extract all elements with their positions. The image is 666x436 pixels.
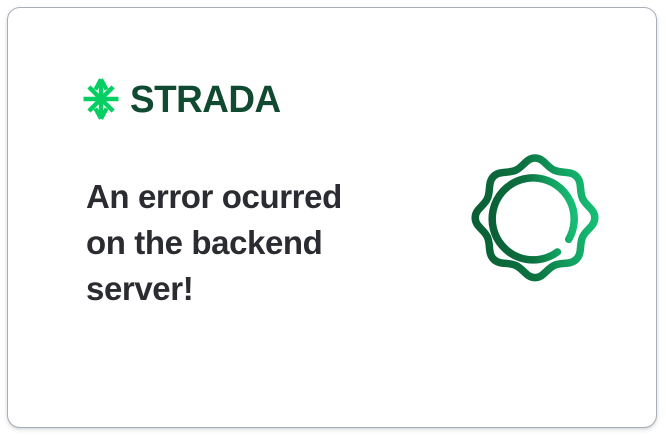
- brand-lockup: STRADA: [79, 77, 285, 121]
- six-point-asterisk-icon: [79, 77, 123, 121]
- error-message-heading: An error ocurred on the backend server!: [86, 174, 386, 312]
- brand-wordmark: STRADA: [130, 80, 281, 119]
- error-card: STRADA An error ocurred on the backend s…: [7, 7, 657, 428]
- gear-cog-icon: [451, 144, 619, 312]
